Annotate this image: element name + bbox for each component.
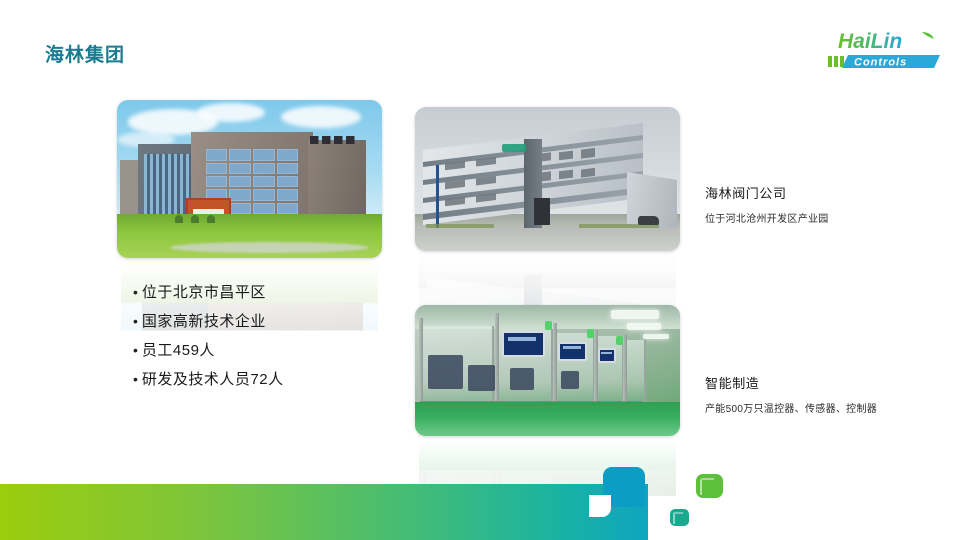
bullet-marker-icon: • <box>133 283 138 302</box>
photo-frame-office <box>117 100 382 258</box>
office-scene <box>117 100 382 258</box>
epoxy-floor <box>415 402 680 436</box>
list-item: • 位于北京市昌平区 <box>133 283 433 302</box>
line-cell-5 <box>624 340 645 409</box>
bullet-marker-icon: • <box>133 341 138 360</box>
list-item: • 研发及技术人员72人 <box>133 370 433 389</box>
footer-gradient-bar <box>0 484 648 540</box>
photo-frame-valve <box>415 107 680 251</box>
list-item: • 国家高新技术企业 <box>133 312 433 331</box>
building-signage <box>310 136 358 144</box>
factory-entrance <box>534 198 550 225</box>
list-item-label: 员工459人 <box>142 341 215 360</box>
list-item-label: 研发及技术人员72人 <box>142 370 284 389</box>
logo-bar-1 <box>828 56 832 67</box>
bullet-marker-icon: • <box>133 312 138 331</box>
parked-vehicle <box>638 216 659 225</box>
footer-notch-shape <box>589 495 611 517</box>
factory-wall-logo <box>502 144 526 151</box>
photo-frame-factory <box>415 305 680 436</box>
headquarters-facts-list: • 位于北京市昌平区 • 国家高新技术企业 • 员工459人 • 研发及技术人员… <box>133 283 433 399</box>
assembly-unit-1 <box>468 365 495 391</box>
footer-square-teal <box>670 509 689 526</box>
smart-manufacturing-caption: 智能制造 产能500万只温控器、传感器、控制器 <box>705 375 915 417</box>
factory-caption-title: 智能制造 <box>705 375 915 393</box>
logo-leaf-icon <box>922 32 934 39</box>
status-light-3 <box>616 336 623 345</box>
assembly-unit-3 <box>561 371 580 389</box>
status-light-1 <box>545 321 552 330</box>
shrub-2 <box>191 215 199 223</box>
valve-caption-title: 海林阀门公司 <box>705 185 915 203</box>
valve-scene <box>415 107 680 251</box>
robot-arm-unit <box>428 355 462 389</box>
list-item-label: 国家高新技术企业 <box>142 312 266 331</box>
bullet-marker-icon: • <box>133 370 138 389</box>
logo-tagline: Controls <box>854 57 907 69</box>
road <box>415 228 680 251</box>
valve-company-building-photo <box>415 107 680 251</box>
list-item: • 员工459人 <box>133 341 433 360</box>
valve-caption-subtitle: 位于河北沧州开发区产业园 <box>705 213 915 227</box>
page-title: 海林集团 <box>45 40 125 67</box>
list-item-label: 位于北京市昌平区 <box>142 283 266 302</box>
logo-svg: HaiLin Controls <box>826 26 944 72</box>
shrub-3 <box>207 215 215 223</box>
status-light-2 <box>587 329 594 338</box>
ceiling-light-1 <box>611 310 659 319</box>
hmi-monitor-1 <box>502 331 544 357</box>
factory-caption-subtitle: 产能500万只温控器、传感器、控制器 <box>705 403 915 417</box>
manufacturing-scene <box>415 305 680 436</box>
logo-bar-2 <box>834 56 838 67</box>
valve-company-caption: 海林阀门公司 位于河北沧州开发区产业园 <box>705 185 915 227</box>
smart-manufacturing-line-photo <box>415 305 680 436</box>
shrub-1 <box>175 215 183 223</box>
ceiling-light-3 <box>643 334 670 339</box>
hmi-monitor-2 <box>558 342 587 362</box>
ceiling-light-2 <box>627 323 661 330</box>
hailin-controls-logo: HaiLin Controls <box>826 26 944 72</box>
hailin-headquarters-photo <box>117 100 382 258</box>
hmi-monitor-3 <box>598 348 617 362</box>
assembly-unit-2 <box>510 368 534 390</box>
logo-wordmark: HaiLin <box>838 30 902 53</box>
footer-square-green <box>696 474 723 498</box>
